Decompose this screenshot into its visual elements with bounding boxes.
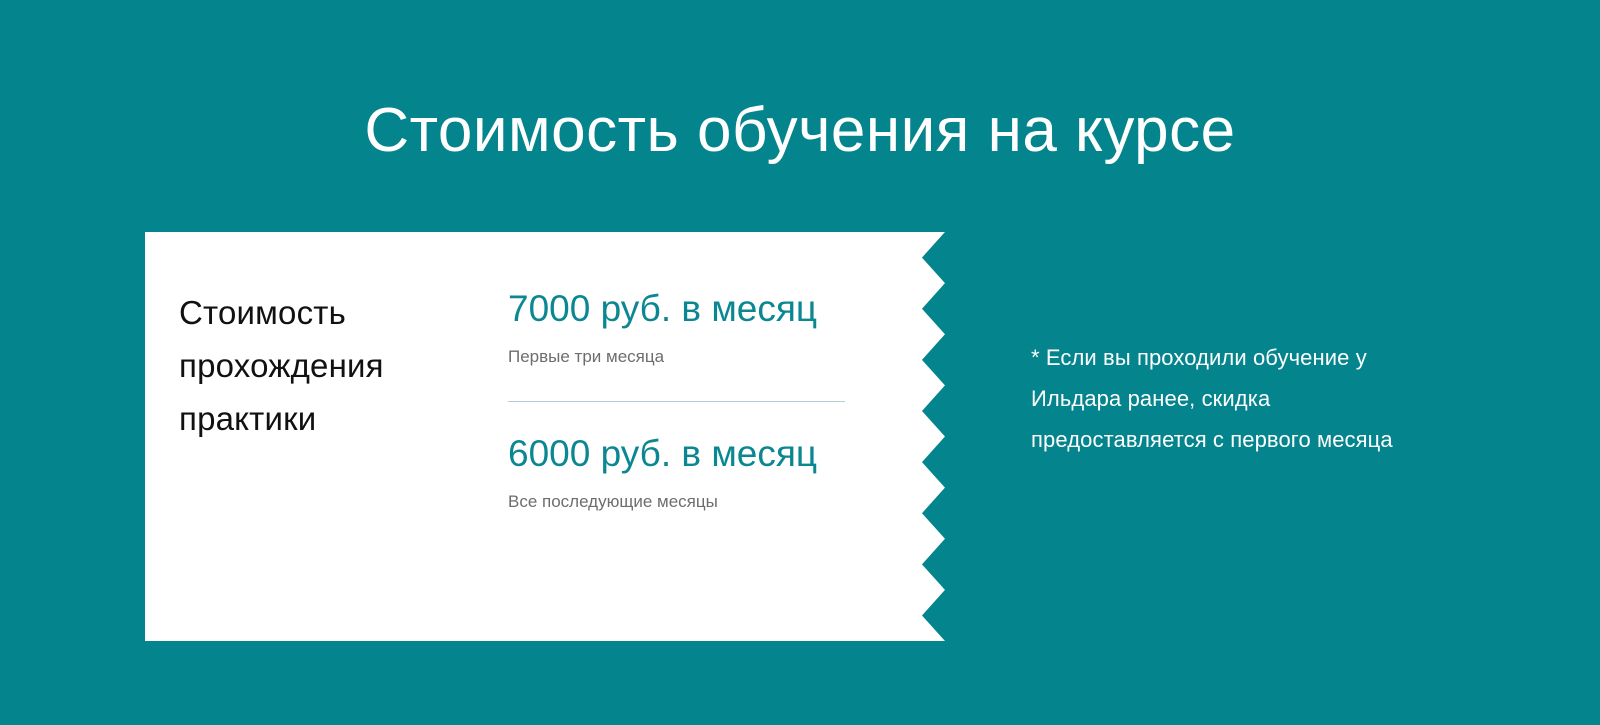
tariff-amount: 6000 руб. в месяц [508, 432, 928, 476]
tariff-item-first: 7000 руб. в месяц Первые три месяца [508, 287, 928, 368]
tariff-list: 7000 руб. в месяц Первые три месяца 6000… [508, 287, 928, 513]
discount-footnote: * Если вы проходили обучение у Ильдара р… [1031, 337, 1431, 460]
tariff-note: Все последующие месяцы [508, 491, 928, 513]
tariff-item-subsequent: 6000 руб. в месяц Все последующие месяцы [508, 432, 928, 513]
pricing-card: Стоимость прохождения практики 7000 руб.… [145, 232, 968, 641]
tariff-divider [508, 401, 845, 402]
pricing-card-heading: Стоимость прохождения практики [179, 286, 459, 445]
page-title: Стоимость обучения на курсе [0, 100, 1600, 162]
tariff-note: Первые три месяца [508, 346, 928, 368]
tariff-amount: 7000 руб. в месяц [508, 287, 928, 331]
pricing-slide: Стоимость обучения на курсе Стоимость пр… [0, 0, 1600, 725]
